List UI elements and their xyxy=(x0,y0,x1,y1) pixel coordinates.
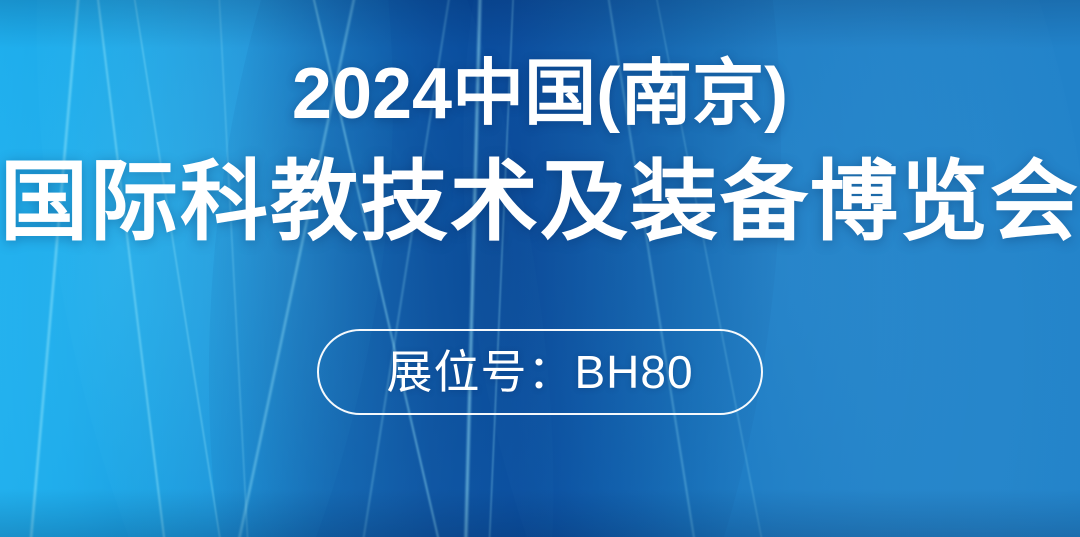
banner-content: 2024中国(南京) 国际科教技术及装备博览会 展位号：BH80 xyxy=(0,0,1080,537)
event-title-line-1: 2024中国(南京) xyxy=(292,58,788,130)
booth-number-badge: 展位号：BH80 xyxy=(317,329,763,415)
exhibition-banner: 2024中国(南京) 国际科教技术及装备博览会 展位号：BH80 xyxy=(0,0,1080,537)
event-title-line-2: 国际科教技术及装备博览会 xyxy=(0,158,1080,246)
booth-number-label: 展位号：BH80 xyxy=(386,349,693,395)
